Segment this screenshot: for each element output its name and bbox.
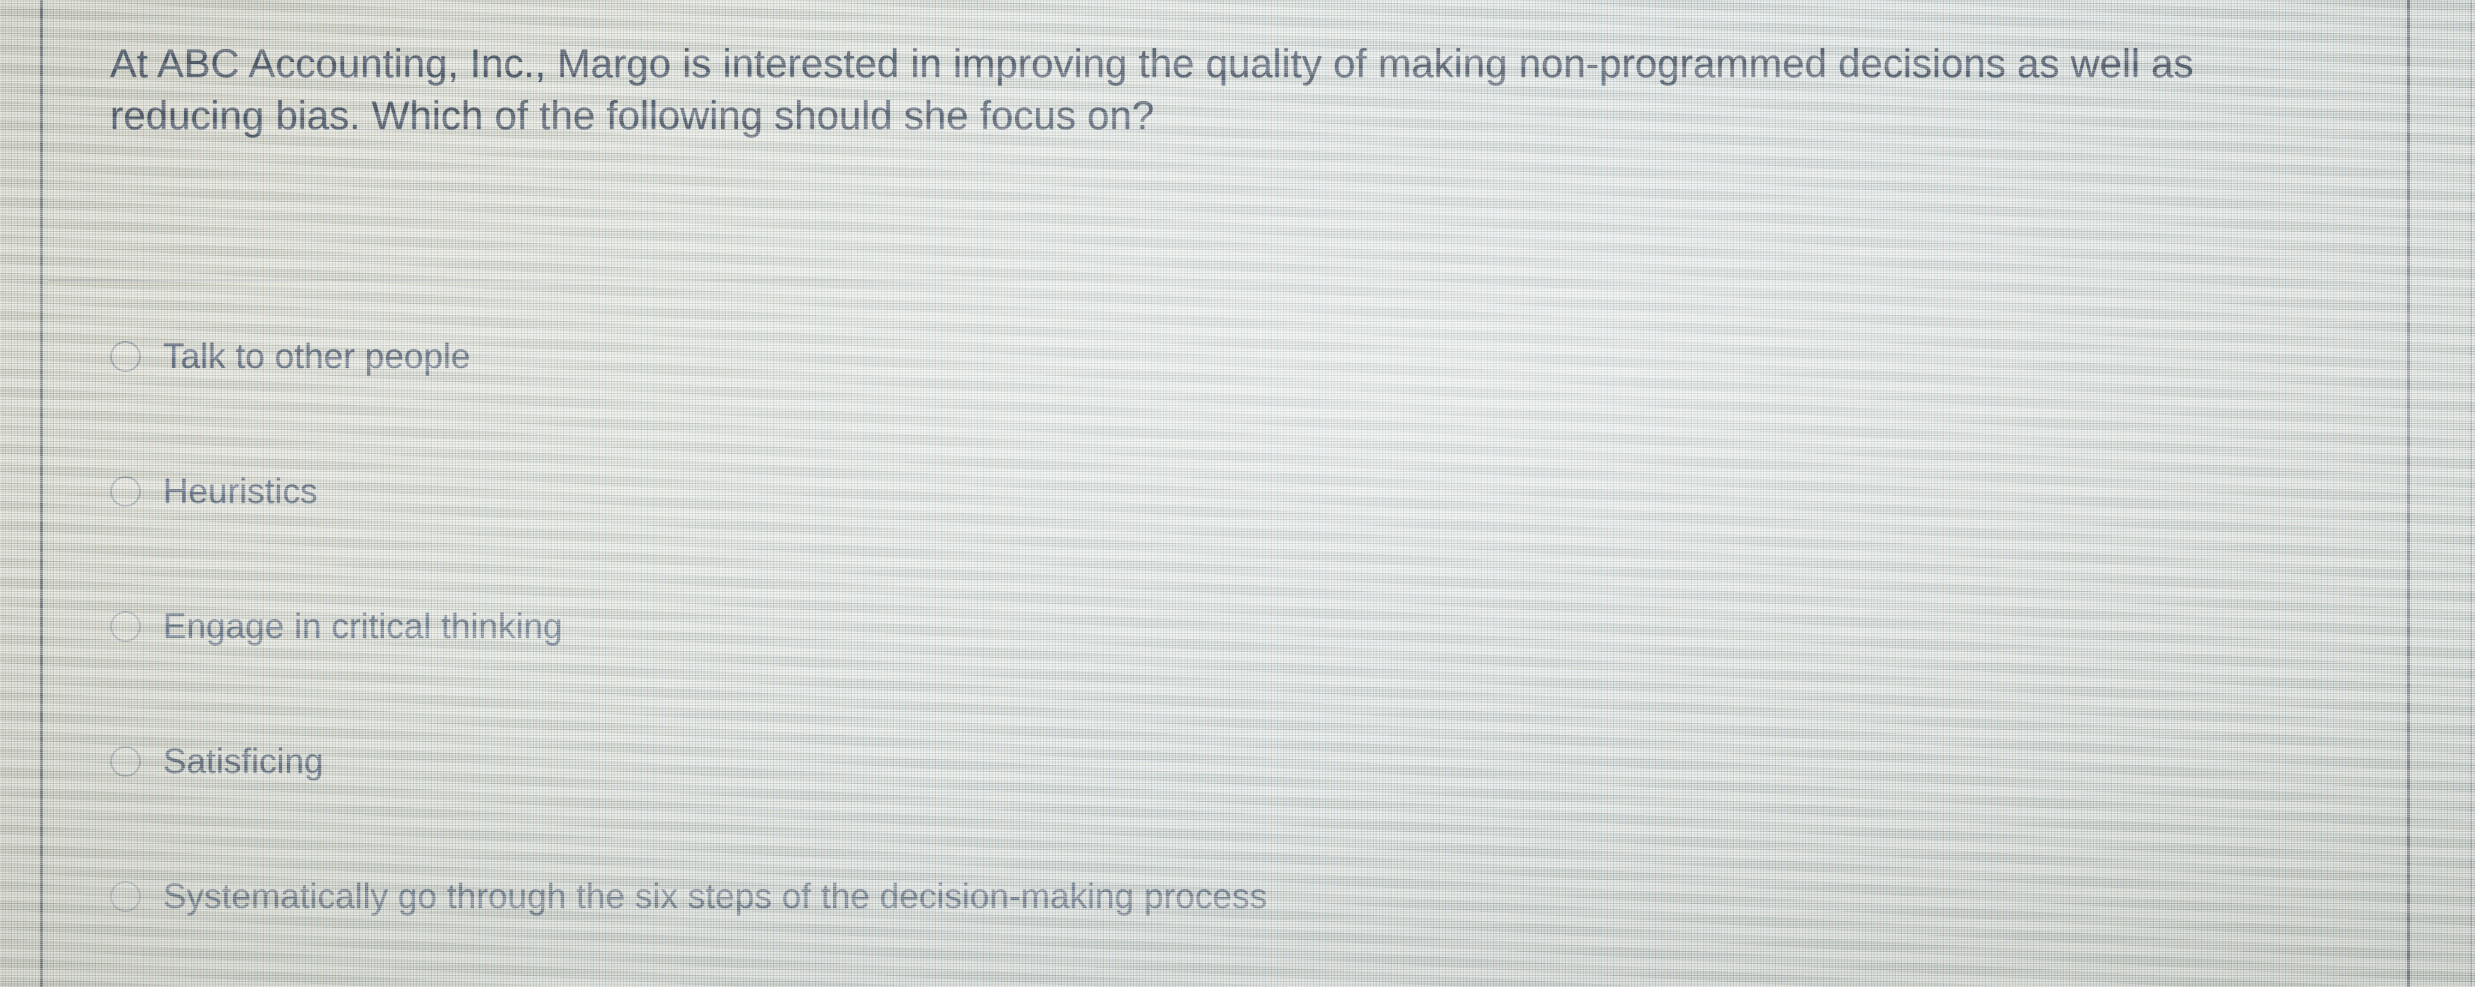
answer-options-list[interactable]: Talk to other people Heuristics Engage i… <box>110 330 2350 987</box>
option-row-2[interactable]: Heuristics <box>110 465 2350 517</box>
radio-unselected-icon[interactable] <box>110 341 141 372</box>
option-label-2[interactable]: Heuristics <box>163 474 318 509</box>
option-label-4[interactable]: Satisficing <box>163 744 324 779</box>
left-border-rule <box>40 0 43 987</box>
question-divider <box>48 280 2348 281</box>
option-row-5[interactable]: Systematically go through the six steps … <box>110 870 2350 922</box>
radio-unselected-icon[interactable] <box>110 746 141 777</box>
question-content: At ABC Accounting, Inc., Margo is intere… <box>0 0 2475 987</box>
radio-unselected-icon[interactable] <box>110 881 141 912</box>
radio-unselected-icon[interactable] <box>110 476 141 507</box>
option-label-5[interactable]: Systematically go through the six steps … <box>163 879 1267 914</box>
radio-unselected-icon[interactable] <box>110 611 141 642</box>
option-row-4[interactable]: Satisficing <box>110 735 2350 787</box>
far-right-border-rule <box>2470 0 2472 987</box>
question-stem: At ABC Accounting, Inc., Margo is intere… <box>110 38 2350 142</box>
option-label-3[interactable]: Engage in critical thinking <box>163 609 563 644</box>
question-screenshot: At ABC Accounting, Inc., Margo is intere… <box>0 0 2475 987</box>
right-border-rule <box>2407 0 2410 987</box>
option-label-1[interactable]: Talk to other people <box>163 339 470 374</box>
option-row-3[interactable]: Engage in critical thinking <box>110 600 2350 652</box>
option-row-1[interactable]: Talk to other people <box>110 330 2350 382</box>
